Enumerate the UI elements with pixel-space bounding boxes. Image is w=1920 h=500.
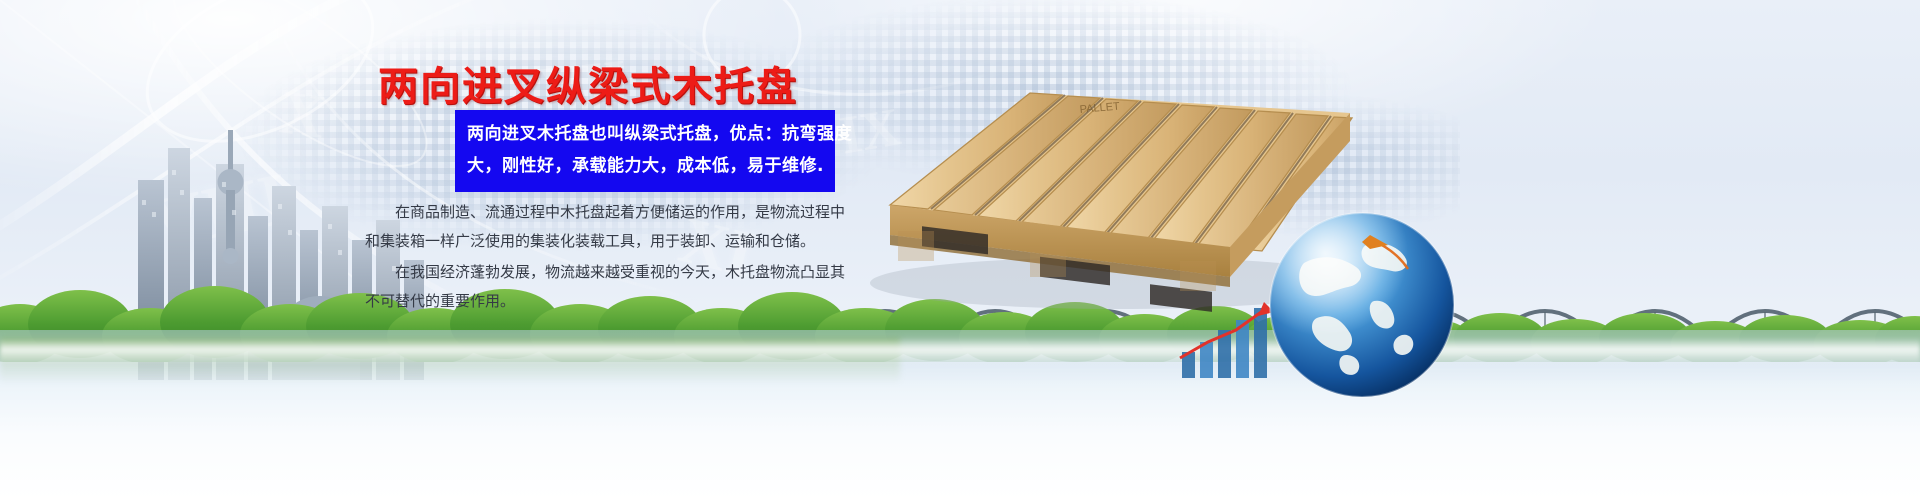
highlight-callout-box: 两向进叉木托盘也叫纵梁式托盘，优点：抗弯强度 大，刚性好，承载能力大，成本低，易…: [455, 110, 835, 192]
water-highlight-streak: [0, 338, 1920, 364]
product-banner: VIII X VII XI IX: [0, 0, 1920, 500]
body-paragraph-1: 在商品制造、流通过程中木托盘起着方便储运的作用，是物流过程中和集装箱一样广泛使用…: [365, 198, 845, 256]
banner-title: 两向进叉纵梁式木托盘: [378, 54, 798, 112]
earth-globe: [1262, 205, 1462, 405]
highlight-line-1: 两向进叉木托盘也叫纵梁式托盘，优点：抗弯强度: [467, 118, 825, 150]
body-paragraph-2: 在我国经济蓬勃发展，物流越来越受重视的今天，木托盘物流凸显其不可替代的重要作用。: [365, 258, 845, 316]
highlight-line-2: 大，刚性好，承载能力大，成本低，易于维修.: [467, 150, 825, 182]
banner-body-text: 在商品制造、流通过程中木托盘起着方便储运的作用，是物流过程中和集装箱一样广泛使用…: [365, 198, 845, 318]
